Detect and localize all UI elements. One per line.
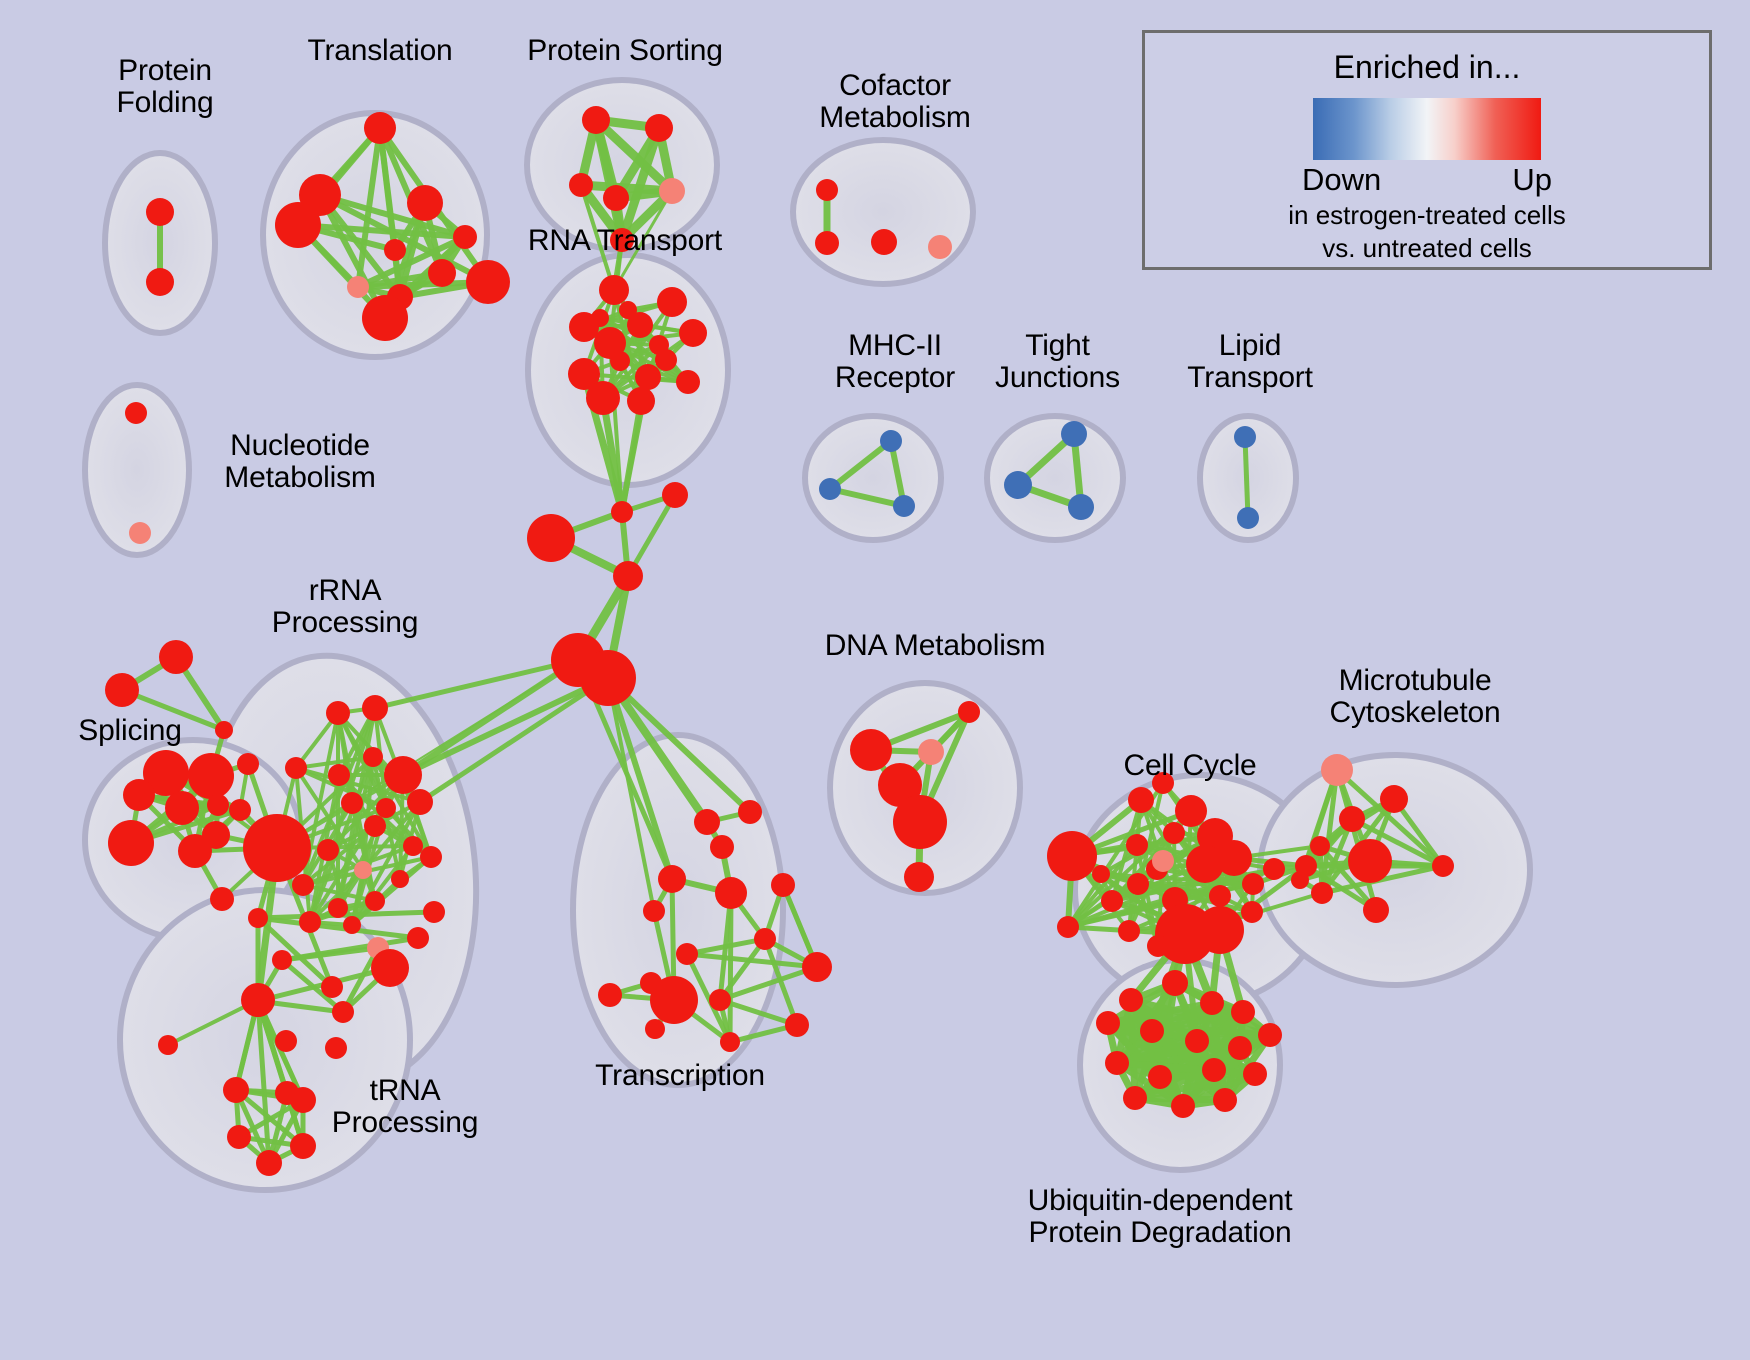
network-node (1291, 871, 1309, 889)
network-node (603, 185, 629, 211)
network-node (598, 983, 622, 1007)
network-node (159, 640, 193, 674)
network-node (816, 179, 838, 201)
cluster-label-rrna-processing: rRNA Processing (250, 575, 440, 640)
network-node (1068, 494, 1094, 520)
network-node (1321, 754, 1353, 786)
network-node (613, 561, 643, 591)
network-node (343, 916, 361, 934)
cluster-label-splicing: Splicing (55, 715, 205, 747)
network-node (659, 178, 685, 204)
network-node (328, 898, 348, 918)
network-node (328, 764, 350, 786)
network-node (1432, 855, 1454, 877)
network-node (710, 835, 734, 859)
network-node (1127, 873, 1149, 895)
network-node (363, 747, 383, 767)
network-node (1185, 1029, 1209, 1053)
network-node (207, 794, 229, 816)
network-node (108, 820, 154, 866)
network-node (611, 501, 633, 523)
network-node (215, 721, 233, 739)
network-node (1209, 885, 1231, 907)
network-node (292, 874, 314, 896)
network-node (645, 1019, 665, 1039)
cluster-label-mhc-ii-receptor: MHC-II Receptor (800, 330, 990, 395)
legend-box: Enriched in... Down Up in estrogen-treat… (1142, 30, 1712, 270)
network-node (362, 695, 388, 721)
cluster-label-transcription: Transcription (570, 1060, 790, 1092)
network-node (1216, 840, 1252, 876)
network-node (586, 381, 620, 415)
network-node (893, 495, 915, 517)
cluster-label-lipid-transport: Lipid Transport (1160, 330, 1340, 395)
network-node (275, 202, 321, 248)
network-node (1061, 421, 1087, 447)
legend-caption-line2: vs. untreated cells (1145, 233, 1709, 264)
network-node (694, 809, 720, 835)
network-node (1101, 890, 1123, 912)
network-node (317, 839, 339, 861)
network-node (720, 1032, 740, 1052)
network-node (1234, 426, 1256, 448)
network-node (229, 799, 251, 821)
cluster-label-translation: Translation (280, 35, 480, 67)
network-node (1258, 1023, 1282, 1047)
cluster-label-protein-sorting: Protein Sorting (500, 35, 750, 67)
network-node (1163, 822, 1185, 844)
network-node (1380, 785, 1408, 813)
network-node (384, 239, 406, 261)
network-node (850, 729, 892, 771)
network-node (248, 908, 268, 928)
network-node (1213, 1088, 1237, 1112)
cluster-hull-mhc-ii-receptor (805, 416, 941, 540)
cluster-hull-transcription (573, 735, 783, 1085)
network-node (391, 870, 409, 888)
network-node (619, 301, 637, 319)
network-node (384, 756, 422, 794)
cluster-label-ubiquitin-degradation: Ubiquitin-dependent Protein Degradation (985, 1185, 1335, 1250)
network-node (676, 943, 698, 965)
network-node (423, 901, 445, 923)
network-node (1162, 970, 1188, 996)
cluster-label-microtubule-cytoskeleton: Microtubule Cytoskeleton (1300, 665, 1530, 730)
network-node (1096, 1011, 1120, 1035)
legend-color-bar (1313, 98, 1541, 160)
network-node (658, 865, 686, 893)
network-node (428, 259, 456, 287)
network-node (679, 319, 707, 347)
network-node (657, 287, 687, 317)
network-node (241, 983, 275, 1017)
network-node (227, 1125, 251, 1149)
network-node (362, 295, 408, 341)
network-node (582, 106, 610, 134)
legend-caption-line1: in estrogen-treated cells (1145, 200, 1709, 231)
network-node (1148, 1065, 1172, 1089)
network-node (1196, 906, 1244, 954)
network-node (958, 701, 980, 723)
network-node (1152, 850, 1174, 872)
network-node (1200, 991, 1224, 1015)
network-node (527, 514, 575, 562)
network-node (129, 522, 151, 544)
network-node (1047, 831, 1097, 881)
network-node (243, 814, 311, 882)
network-node (1175, 795, 1207, 827)
network-node (202, 821, 230, 849)
network-node (1004, 471, 1032, 499)
enrichment-map-figure: Protein Folding Translation Protein Sort… (0, 0, 1750, 1360)
network-node (1263, 858, 1285, 880)
network-node (371, 949, 409, 987)
network-node (643, 900, 665, 922)
network-node (188, 753, 234, 799)
network-node (871, 229, 897, 255)
network-node (158, 1035, 178, 1055)
network-node (1243, 1062, 1267, 1086)
network-node (341, 792, 363, 814)
network-node (1171, 1094, 1195, 1118)
network-node (210, 887, 234, 911)
network-node (376, 798, 396, 818)
network-node (1237, 507, 1259, 529)
network-node (299, 911, 321, 933)
network-node (146, 268, 174, 296)
cluster-label-rna-transport: RNA Transport (505, 225, 745, 257)
cluster-label-nucleotide-metabolism: Nucleotide Metabolism (195, 430, 405, 495)
network-node (1311, 882, 1333, 904)
network-node (1128, 787, 1154, 813)
legend-low-label: Down (1302, 162, 1381, 198)
network-node (1126, 834, 1148, 856)
network-node (771, 873, 795, 897)
network-node (1348, 839, 1392, 883)
network-node (321, 976, 343, 998)
network-node (1231, 1000, 1255, 1024)
network-node (237, 753, 259, 775)
cluster-label-tight-junctions: Tight Junctions (970, 330, 1145, 395)
network-node (407, 185, 443, 221)
network-node (326, 701, 350, 725)
network-node (580, 650, 636, 706)
network-node (918, 739, 944, 765)
network-node (1202, 1058, 1226, 1082)
cluster-label-dna-metabolism: DNA Metabolism (810, 630, 1060, 662)
network-node (709, 989, 731, 1011)
network-node (627, 387, 655, 415)
network-node (354, 861, 372, 879)
network-node (1057, 916, 1079, 938)
legend-title: Enriched in... (1145, 49, 1709, 86)
network-node (1123, 1086, 1147, 1110)
network-node (610, 351, 630, 371)
network-node (819, 478, 841, 500)
network-node (754, 928, 776, 950)
network-node (1363, 897, 1389, 923)
network-node (591, 309, 609, 327)
network-node (662, 482, 688, 508)
network-node (407, 927, 429, 949)
network-node (1092, 865, 1110, 883)
network-node (125, 402, 147, 424)
network-node (1228, 1036, 1252, 1060)
network-node (785, 1013, 809, 1037)
network-node (715, 877, 747, 909)
network-node (165, 791, 199, 825)
network-node (347, 276, 369, 298)
cluster-label-trna-processing: tRNA Processing (310, 1075, 500, 1140)
network-node (325, 1037, 347, 1059)
network-node (676, 370, 700, 394)
network-node (635, 364, 661, 390)
cluster-label-protein-folding: Protein Folding (75, 55, 255, 120)
network-node (223, 1077, 249, 1103)
network-node (105, 673, 139, 707)
network-node (599, 275, 629, 305)
network-node (1140, 1019, 1164, 1043)
network-node (256, 1150, 282, 1176)
network-node (1147, 935, 1169, 957)
legend-high-label: Up (1512, 162, 1552, 198)
network-node (645, 114, 673, 142)
network-node (466, 260, 510, 304)
network-node (365, 891, 385, 911)
network-node (893, 795, 947, 849)
network-node (403, 836, 423, 856)
network-node (1119, 988, 1143, 1012)
network-node (364, 112, 396, 144)
network-node (420, 846, 442, 868)
network-node (332, 1001, 354, 1023)
network-node (738, 800, 762, 824)
network-node (649, 335, 669, 355)
network-node (904, 862, 934, 892)
network-node (453, 225, 477, 249)
network-node (123, 779, 155, 811)
network-node (815, 231, 839, 255)
network-node (1105, 1051, 1129, 1075)
network-node (285, 757, 307, 779)
network-node (1339, 806, 1365, 832)
network-node (146, 198, 174, 226)
network-node (1118, 920, 1140, 942)
network-node (275, 1030, 297, 1052)
network-node (880, 430, 902, 452)
network-node (407, 789, 433, 815)
network-node (650, 976, 698, 1024)
network-node (1241, 901, 1263, 923)
cluster-label-cell-cycle: Cell Cycle (1100, 750, 1280, 782)
network-node (1242, 873, 1264, 895)
network-node (272, 950, 292, 970)
network-node (928, 235, 952, 259)
cluster-hull-cofactor-metabolism (793, 140, 973, 284)
cluster-label-cofactor-metabolism: Cofactor Metabolism (795, 70, 995, 135)
network-node (802, 952, 832, 982)
network-node (1310, 836, 1330, 856)
network-node (364, 815, 386, 837)
network-node (569, 173, 593, 197)
